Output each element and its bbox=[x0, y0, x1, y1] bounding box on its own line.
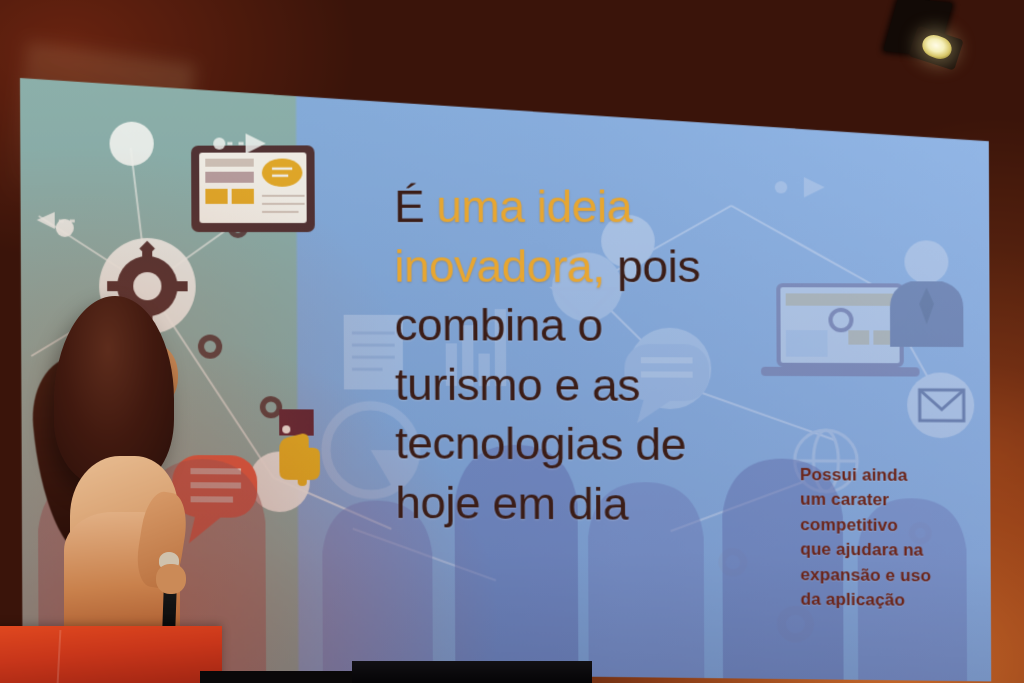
gear-icon-small-group bbox=[197, 218, 282, 418]
slide-headline: É uma ideia inovadora, pois combina o tu… bbox=[394, 177, 766, 535]
headline-line-6: hoje em dia bbox=[395, 473, 766, 535]
slide-sidenote: Possui ainda um carater competitivo que … bbox=[800, 463, 991, 615]
desk-edge-secondary bbox=[200, 671, 370, 683]
headline-line-4: turismo e as bbox=[395, 355, 766, 416]
stage-spotlight bbox=[884, 0, 976, 72]
sidenote-line: competitivo bbox=[800, 513, 991, 540]
presenter-hand bbox=[156, 564, 186, 594]
sidenote-line: expansão e uso bbox=[800, 562, 991, 589]
sidenote-line: Possui ainda bbox=[800, 463, 991, 489]
headline-line-1: É uma ideia bbox=[394, 177, 765, 237]
headline-seg-highlight-2: inovadora, bbox=[394, 240, 604, 292]
headline-line-5: tecnologias de bbox=[395, 414, 766, 475]
headline-line-3: combina o bbox=[394, 296, 765, 356]
sidenote-line: da aplicação bbox=[800, 587, 991, 614]
hand-cursor-icon bbox=[279, 409, 320, 486]
sidenote-line: um carater bbox=[800, 488, 991, 514]
headline-line-2: inovadora, pois bbox=[394, 237, 765, 297]
businessman-icon bbox=[890, 240, 964, 347]
sidenote-line: que ajudara na bbox=[800, 538, 991, 565]
desk-edge bbox=[352, 661, 592, 683]
headline-seg-plain-2: pois bbox=[604, 240, 700, 292]
draped-table bbox=[0, 626, 222, 683]
presenter bbox=[28, 296, 208, 656]
stage-scene: É uma ideia inovadora, pois combina o tu… bbox=[0, 0, 1024, 683]
headline-seg-plain-1: É bbox=[394, 181, 437, 233]
tablet-browser-icon bbox=[191, 145, 315, 232]
arrow-icon-right bbox=[775, 177, 825, 197]
headline-seg-highlight-1: uma ideia bbox=[436, 180, 632, 232]
